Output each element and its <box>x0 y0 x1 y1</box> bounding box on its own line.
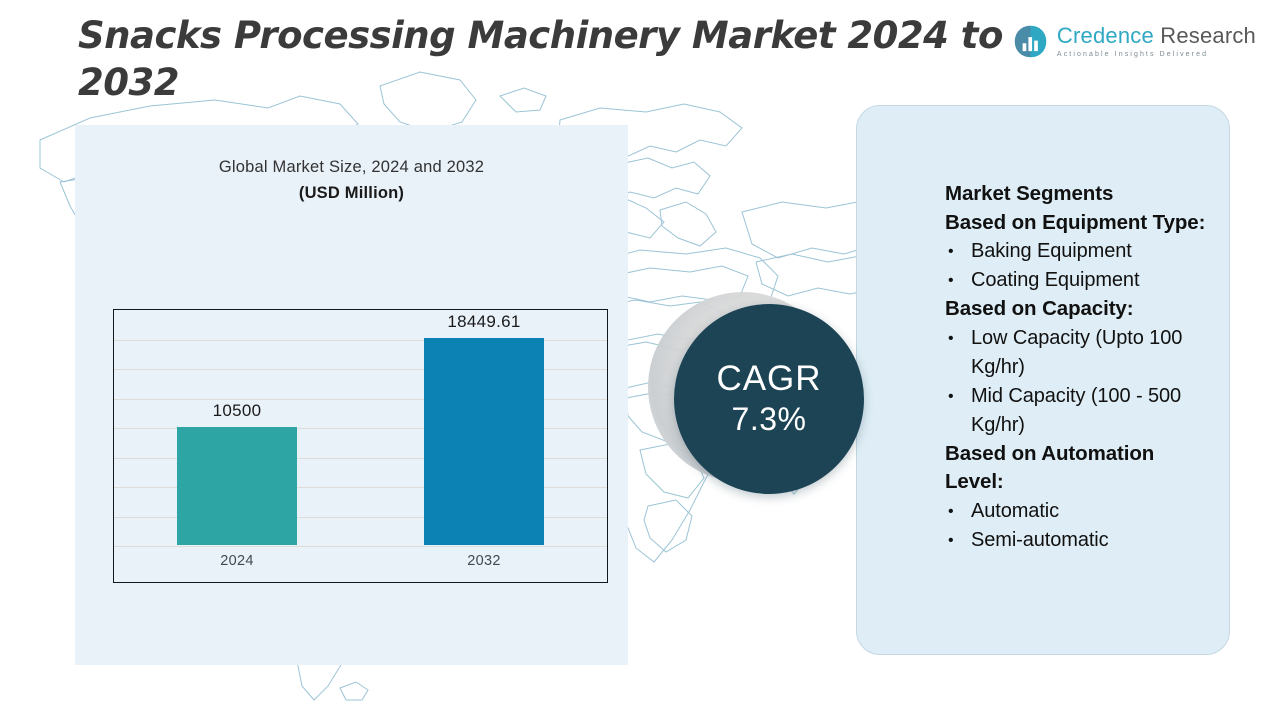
bullet-icon: • <box>948 382 957 440</box>
market-segments-panel: Market SegmentsBased on Equipment Type:•… <box>856 105 1230 655</box>
chart-heading: Global Market Size, 2024 and 2032 (USD M… <box>75 125 628 203</box>
segment-heading: Based on Capacity: <box>945 295 1207 324</box>
bar-chart-badge-icon <box>1013 24 1048 59</box>
x-axis-label-2032: 2032 <box>384 553 584 569</box>
chart-heading-line2: (USD Million) <box>75 184 628 203</box>
segment-item-label: Baking Equipment <box>971 237 1132 266</box>
segment-item-label: Automatic <box>971 497 1059 526</box>
segment-heading: Market Segments <box>945 180 1207 209</box>
segment-item-label: Semi-automatic <box>971 526 1109 555</box>
segment-list-item: •Automatic <box>945 497 1207 526</box>
cagr-circle: CAGR 7.3% <box>674 304 864 494</box>
logo-name-research: Research <box>1160 23 1256 48</box>
bar-2032 <box>424 338 544 545</box>
page-title: Snacks Processing Machinery Market 2024 … <box>78 12 1018 106</box>
logo-icon-svg <box>1013 24 1048 59</box>
chart-panel: Global Market Size, 2024 and 2032 (USD M… <box>75 125 628 665</box>
logo-wordmark: Credence Research <box>1057 25 1256 47</box>
logo-tagline: Actionable Insights Delivered <box>1057 51 1256 58</box>
segment-heading: Based on Automation Level: <box>945 440 1207 497</box>
x-axis-label-2024: 2024 <box>137 553 337 569</box>
bullet-icon: • <box>948 497 957 526</box>
segment-item-label: Mid Capacity (100 - 500 Kg/hr) <box>971 382 1207 440</box>
segment-list-item: •Baking Equipment <box>945 237 1207 266</box>
segment-list-item: •Coating Equipment <box>945 266 1207 295</box>
bullet-icon: • <box>948 324 957 382</box>
infographic-canvas: Snacks Processing Machinery Market 2024 … <box>0 0 1280 720</box>
bullet-icon: • <box>948 526 957 555</box>
chart-heading-line1: Global Market Size, 2024 and 2032 <box>75 158 628 177</box>
segment-list-item: •Low Capacity (Upto 100 Kg/hr) <box>945 324 1207 382</box>
bar-2024 <box>177 427 297 545</box>
segment-item-label: Coating Equipment <box>971 266 1139 295</box>
cagr-value: 7.3% <box>732 400 807 438</box>
segment-list-item: •Mid Capacity (100 - 500 Kg/hr) <box>945 382 1207 440</box>
market-segments-list: Market SegmentsBased on Equipment Type:•… <box>857 106 1229 555</box>
bullet-icon: • <box>948 266 957 295</box>
bar-chart-overlay: 10500202418449.612032 <box>113 309 608 583</box>
segment-list-item: •Semi-automatic <box>945 526 1207 555</box>
brand-logo[interactable]: Credence Research Actionable Insights De… <box>1013 24 1256 59</box>
logo-text: Credence Research Actionable Insights De… <box>1057 25 1256 58</box>
bar-value-label-2032: 18449.61 <box>384 312 584 332</box>
header: Snacks Processing Machinery Market 2024 … <box>0 0 1280 112</box>
bullet-icon: • <box>948 237 957 266</box>
logo-name-credence: Credence <box>1057 23 1154 48</box>
cagr-callout: CAGR 7.3% <box>648 292 864 494</box>
segment-item-label: Low Capacity (Upto 100 Kg/hr) <box>971 324 1207 382</box>
cagr-label: CAGR <box>716 359 821 398</box>
segment-heading: Based on Equipment Type: <box>945 209 1207 238</box>
bar-value-label-2024: 10500 <box>137 401 337 421</box>
